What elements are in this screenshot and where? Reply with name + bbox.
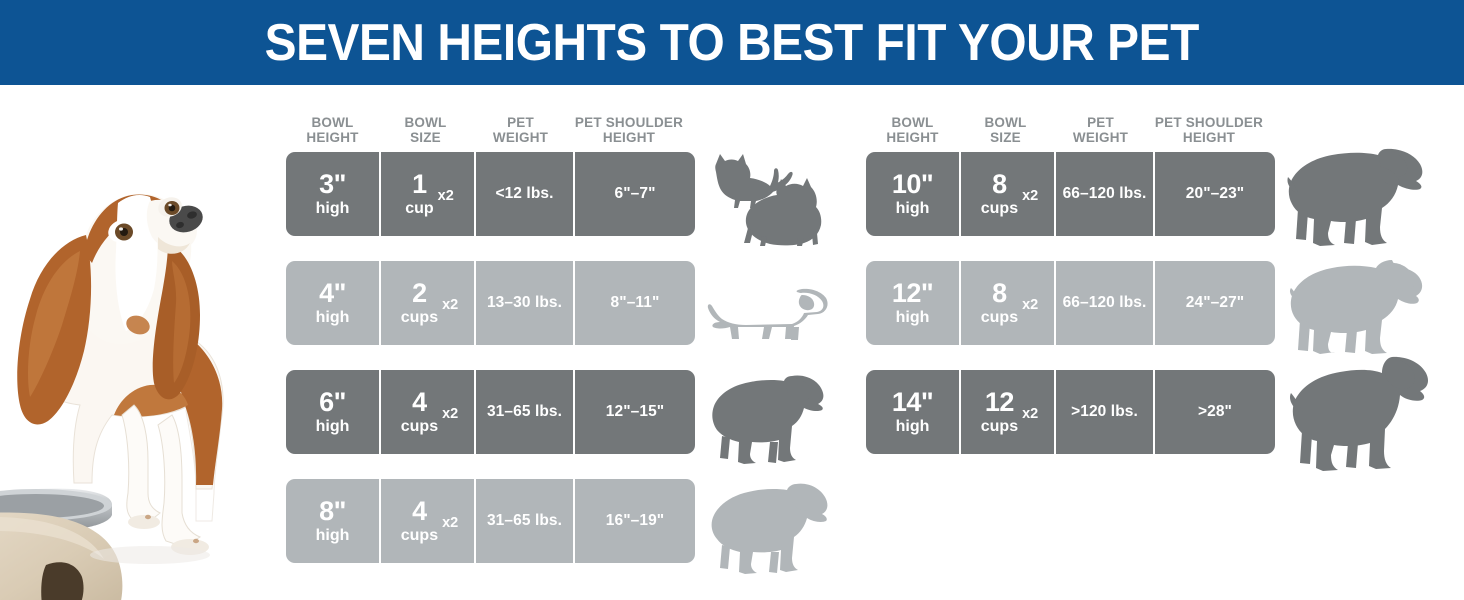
column-header-bowl-size: BOWLSIZE	[379, 108, 472, 152]
left-table: BOWLHEIGHT BOWLSIZE PETWEIGHT PET SHOULD…	[286, 108, 695, 588]
cell-bowl-size: 4 cups x2	[381, 370, 474, 454]
header-banner: SEVEN HEIGHTS TO BEST FIT YOUR PET	[0, 0, 1464, 85]
left-table-header-row: BOWLHEIGHT BOWLSIZE PETWEIGHT PET SHOULD…	[286, 108, 695, 152]
cell-bowl-height: 6" high	[286, 370, 379, 454]
cell-bowl-height: 8" high	[286, 479, 379, 563]
column-header-pet-weight: PETWEIGHT	[1052, 108, 1149, 152]
silhouette-boxer	[1288, 258, 1438, 356]
cell-pet-weight: <12 lbs.	[476, 152, 573, 236]
cell-bowl-height: 12" high	[866, 261, 959, 345]
cell-pet-weight: 66–120 lbs.	[1056, 152, 1153, 236]
cell-bowl-size: 12 cups x2	[961, 370, 1054, 454]
table-row: 14" high 12 cups x2 >120 lbs. >28"	[866, 370, 1275, 454]
cell-bowl-height: 10" high	[866, 152, 959, 236]
cell-pet-shoulder-height: 24"–27"	[1155, 261, 1275, 345]
cell-bowl-size: 8 cups x2	[961, 261, 1054, 345]
silhouette-golden-retriever	[1286, 145, 1434, 249]
page-title: SEVEN HEIGHTS TO BEST FIT YOUR PET	[265, 13, 1199, 73]
cell-bowl-size: 8 cups x2	[961, 152, 1054, 236]
cell-bowl-height: 14" high	[866, 370, 959, 454]
right-table: BOWLHEIGHT BOWLSIZE PETWEIGHT PET SHOULD…	[866, 108, 1275, 479]
cell-bowl-height: 3" high	[286, 152, 379, 236]
silhouette-cat-and-small-fluffy-dog	[706, 148, 830, 248]
table-row: 10" high 8 cups x2 66–120 lbs. 20"–23"	[866, 152, 1275, 236]
table-row: 8" high 4 cups x2 31–65 lbs. 16"–19"	[286, 479, 695, 563]
silhouette-medium-herding-dog	[706, 480, 834, 576]
cell-pet-weight: 66–120 lbs.	[1056, 261, 1153, 345]
cell-bowl-size: 1 cup x2	[381, 152, 474, 236]
cell-pet-shoulder-height: 6"–7"	[575, 152, 695, 236]
cell-pet-shoulder-height: 12"–15"	[575, 370, 695, 454]
table-row: 12" high 8 cups x2 66–120 lbs. 24"–27"	[866, 261, 1275, 345]
cell-pet-weight: >120 lbs.	[1056, 370, 1153, 454]
silhouette-great-dane	[1288, 355, 1440, 473]
cell-bowl-size: 2 cups x2	[381, 261, 474, 345]
cell-pet-shoulder-height: >28"	[1155, 370, 1275, 454]
column-header-pet-shoulder-height: PET SHOULDERHEIGHT	[1149, 108, 1269, 152]
column-header-bowl-height: BOWLHEIGHT	[866, 108, 959, 152]
column-header-bowl-size: BOWLSIZE	[959, 108, 1052, 152]
cell-pet-shoulder-height: 8"–11"	[575, 261, 695, 345]
hero-photo-basset-hound-with-feeder	[0, 85, 268, 600]
cell-bowl-height: 4" high	[286, 261, 379, 345]
cell-pet-weight: 31–65 lbs.	[476, 479, 573, 563]
silhouette-dachshund	[706, 285, 830, 347]
cell-pet-weight: 31–65 lbs.	[476, 370, 573, 454]
right-table-header-row: BOWLHEIGHT BOWLSIZE PETWEIGHT PET SHOULD…	[866, 108, 1275, 152]
basset-hound-illustration	[0, 85, 268, 600]
table-row: 3" high 1 cup x2 <12 lbs. 6"–7"	[286, 152, 695, 236]
cell-pet-shoulder-height: 20"–23"	[1155, 152, 1275, 236]
table-row: 4" high 2 cups x2 13–30 lbs. 8"–11"	[286, 261, 695, 345]
silhouette-medium-herding-dog	[706, 370, 830, 466]
cell-bowl-size: 4 cups x2	[381, 479, 474, 563]
column-header-pet-weight: PETWEIGHT	[472, 108, 569, 152]
column-header-bowl-height: BOWLHEIGHT	[286, 108, 379, 152]
table-row: 6" high 4 cups x2 31–65 lbs. 12"–15"	[286, 370, 695, 454]
cell-pet-shoulder-height: 16"–19"	[575, 479, 695, 563]
column-header-pet-shoulder-height: PET SHOULDERHEIGHT	[569, 108, 689, 152]
cell-pet-weight: 13–30 lbs.	[476, 261, 573, 345]
